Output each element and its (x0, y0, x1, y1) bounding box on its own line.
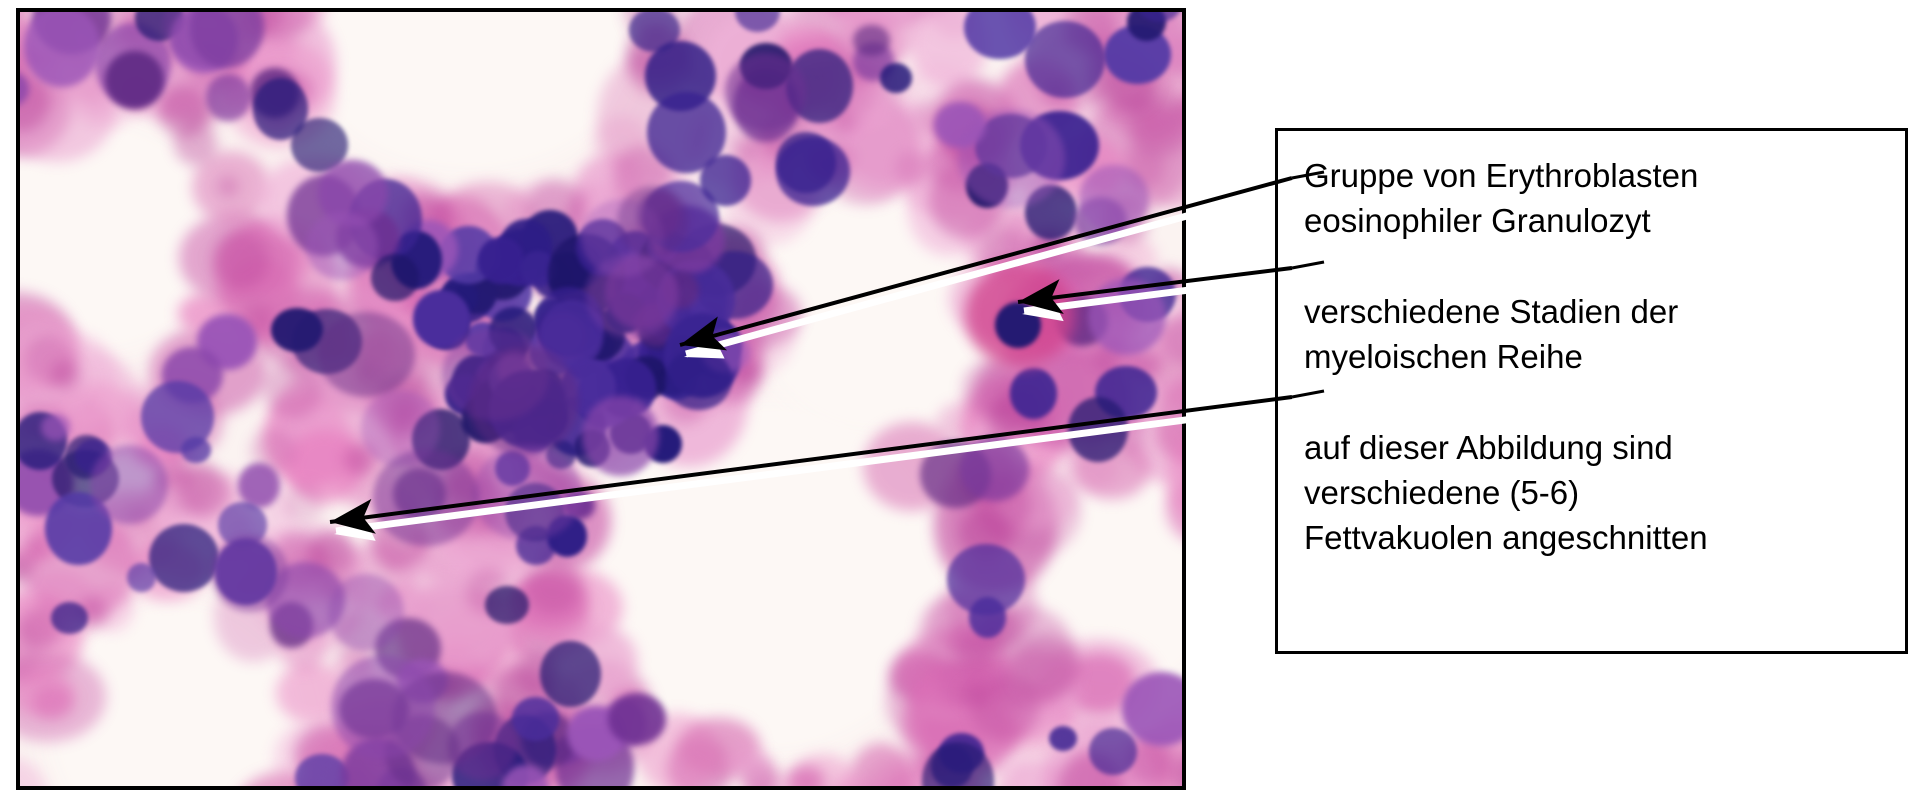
legend-line: myeloischen Reihe (1304, 334, 1905, 379)
large-nucleus (725, 53, 806, 131)
large-nucleus (331, 655, 435, 759)
histology-micrograph (16, 8, 1186, 790)
nucleus (582, 396, 659, 476)
myeloid-nucleus (1010, 368, 1057, 419)
large-nucleus (212, 535, 288, 613)
cytoplasm-blob (787, 754, 858, 786)
large-nucleus (318, 312, 415, 397)
cytoplasm-accent (25, 335, 75, 385)
myeloid-nucleus (51, 602, 88, 634)
legend-line: Fettvakuolen angeschnitten (1304, 515, 1905, 560)
erythroblast-nucleus (478, 237, 525, 284)
large-nucleus (306, 212, 377, 280)
fat-vacuole (320, 12, 620, 162)
myeloid-nucleus (880, 63, 912, 93)
large-nucleus (328, 574, 404, 651)
legend-line: eosinophiler Granulozyt (1304, 198, 1905, 243)
cytoplasm-blob (32, 685, 74, 720)
cytoplasm-blob (896, 151, 929, 186)
large-nucleus (958, 109, 1064, 209)
large-nucleus (469, 346, 579, 456)
myeloid-nucleus (271, 308, 323, 352)
myeloid-nucleus (540, 641, 601, 707)
myeloid-nucleus (776, 137, 850, 206)
cytoplasm-accent (283, 483, 324, 524)
nucleus (105, 51, 164, 110)
legend-line: Gruppe von Erythroblasten (1304, 153, 1905, 198)
nucleus (853, 25, 889, 56)
cytoplasm-accent (158, 85, 210, 137)
nucleus (960, 437, 1029, 501)
legend-line: verschiedene (5-6) (1304, 470, 1905, 515)
myeloid-nucleus (127, 563, 156, 592)
legend-line: auf dieser Abbildung sind (1304, 425, 1905, 470)
large-nucleus (473, 445, 582, 541)
eosinophil-nucleus (995, 302, 1041, 348)
nucleus (1088, 278, 1166, 355)
cytoplasm-accent (1012, 634, 1079, 701)
myeloid-nucleus (665, 349, 732, 410)
large-nucleus (1079, 165, 1149, 232)
cytoplasm-blob (726, 747, 770, 779)
legend-line: verschiedene Stadien der (1304, 289, 1905, 334)
myeloid-nucleus (253, 78, 308, 140)
myeloid-nucleus (141, 381, 214, 453)
myeloid-nucleus (149, 524, 220, 592)
nucleus (206, 74, 251, 121)
myeloid-nucleus (1025, 21, 1105, 97)
myeloid-nucleus (485, 586, 529, 624)
cytoplasm-blob (20, 757, 48, 786)
nucleus (608, 693, 666, 745)
cytoplasm-accent (212, 231, 270, 289)
legend-spacer (1304, 243, 1905, 289)
cytoplasm-accent (960, 681, 987, 708)
myeloid-nucleus (700, 155, 751, 205)
myeloid-nucleus (512, 697, 559, 740)
large-nucleus (617, 186, 689, 257)
cytoplasm-accent (178, 465, 230, 517)
tissue-field (20, 12, 1182, 786)
large-nucleus (373, 449, 480, 546)
legend-box: Gruppe von Erythroblasten eosinophiler G… (1275, 128, 1908, 654)
nucleus (41, 414, 71, 441)
legend-spacer (1304, 379, 1905, 425)
